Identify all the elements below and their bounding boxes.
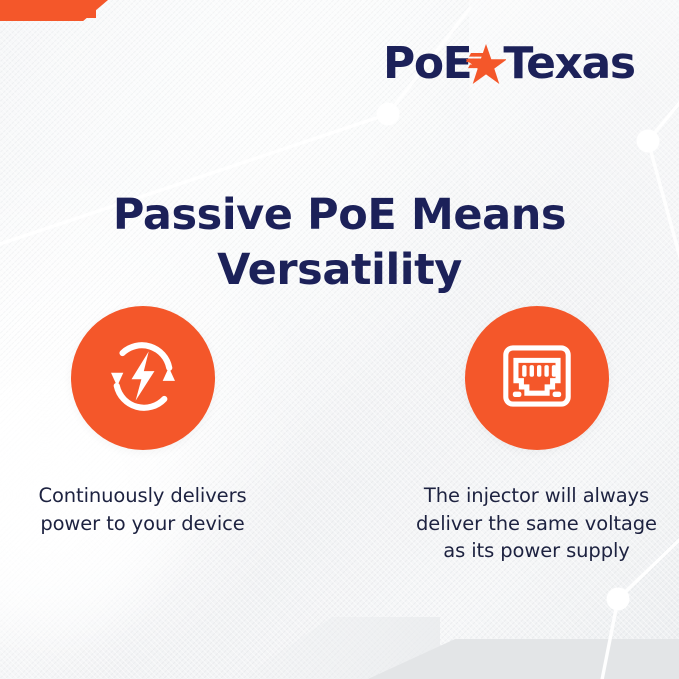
feature-caption-line-2: power to your device — [38, 510, 246, 538]
feature-caption: Continuously delivers power to your devi… — [38, 482, 246, 537]
power-cycle-bolt-icon — [102, 335, 184, 422]
feature-item-constant-voltage: The injector will always deliver the sam… — [413, 306, 661, 565]
logo-text-poe: PoE — [383, 42, 471, 86]
ethernet-rj45-port-icon — [498, 337, 576, 420]
star-icon — [466, 42, 506, 86]
poe-texas-logo[interactable]: PoE Texas — [383, 38, 635, 90]
page-title-line-2: Versatility — [0, 243, 679, 298]
feature-caption-line-3: as its power supply — [416, 537, 657, 565]
feature-caption-line-1: The injector will always — [416, 482, 657, 510]
page-title-line-1: Passive PoE Means — [113, 190, 566, 240]
feature-caption: The injector will always deliver the sam… — [416, 482, 657, 565]
infographic-canvas: PoE Texas Passive PoE Means Versatility — [0, 0, 679, 679]
feature-item-continuous-power: Continuously delivers power to your devi… — [19, 306, 267, 565]
logo-text-texas: Texas — [503, 42, 634, 86]
feature-row: Continuously delivers power to your devi… — [0, 306, 679, 565]
feature-caption-line-2: deliver the same voltage — [416, 510, 657, 538]
feature-icon-badge — [71, 306, 215, 450]
feature-icon-badge — [465, 306, 609, 450]
feature-caption-line-1: Continuously delivers — [38, 482, 246, 510]
page-title: Passive PoE Means Versatility — [0, 188, 679, 298]
